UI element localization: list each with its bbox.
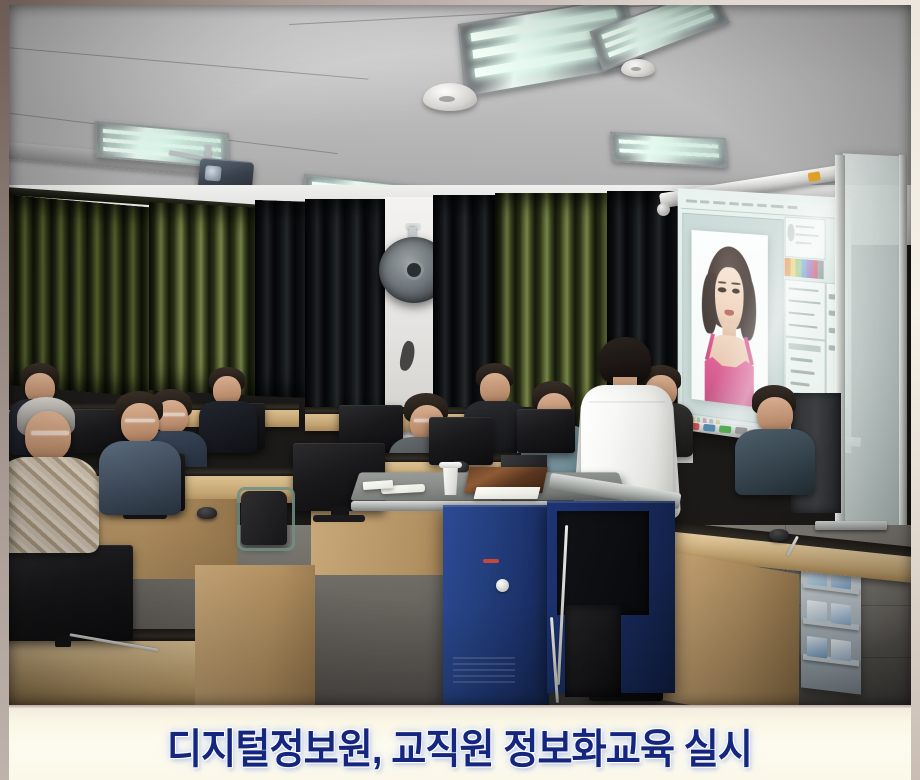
ceiling-light-fixture	[610, 132, 728, 168]
screen-roller-end	[657, 203, 670, 216]
status-led	[483, 559, 499, 563]
computer-keyboard	[815, 521, 887, 530]
computer-monitor	[429, 417, 493, 465]
vent-slot	[453, 675, 515, 677]
app-layers-panel	[785, 279, 826, 340]
paper-sheet	[474, 487, 541, 499]
computer-monitor-back	[9, 545, 133, 641]
vent-slot	[453, 663, 515, 665]
brochure-rack	[801, 559, 861, 694]
smoke-detector-icon	[423, 83, 477, 111]
computer-desk	[9, 635, 197, 705]
chair-frame	[237, 487, 295, 551]
control-knob	[496, 579, 509, 592]
vent-slot	[453, 669, 515, 671]
photo-card: 디지털정보원, 교직원 정보화교육 실시	[0, 0, 920, 780]
vent-slot	[453, 681, 515, 683]
classroom-photograph	[9, 5, 911, 705]
portrait-image	[691, 230, 768, 409]
smoke-detector-icon	[621, 59, 655, 77]
desk-front-panel	[195, 565, 315, 705]
window-curtain	[149, 202, 261, 396]
app-document	[691, 230, 768, 409]
computer-mouse	[197, 507, 217, 519]
monitor-stand	[55, 635, 71, 647]
caption-title: 디지털정보원, 교직원 정보화교육 실시	[167, 715, 752, 775]
app-tool-panel	[785, 217, 826, 260]
computer-mouse	[769, 529, 789, 541]
equipment-bay	[557, 511, 649, 615]
vent-slot	[453, 657, 515, 659]
screen-roller-knob	[808, 171, 821, 182]
computer-monitor	[517, 409, 575, 453]
coffee-cup-lid	[439, 462, 462, 468]
caption-bar: 디지털정보원, 교직원 정보화교육 실시	[9, 705, 911, 780]
app-color-swatches	[785, 258, 824, 279]
equipment-unit	[565, 605, 621, 697]
monitor-base	[313, 515, 365, 522]
window-curtain	[305, 199, 387, 431]
